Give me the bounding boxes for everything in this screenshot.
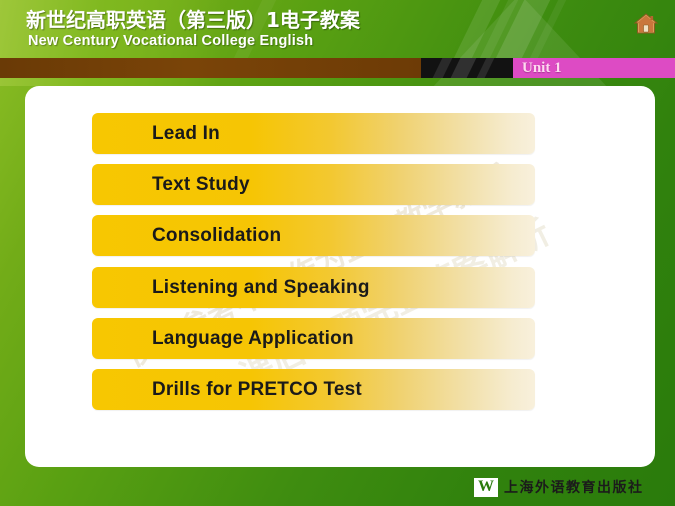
publisher-mark-icon: W (474, 478, 498, 497)
menu-item-text-study[interactable]: Text Study (92, 164, 535, 205)
page-title-chinese: 新世纪高职英语（第三版）1电子教案 (26, 4, 360, 33)
menu-item-label: Lead In (152, 113, 220, 154)
menu-item-consolidation[interactable]: Consolidation (92, 215, 535, 256)
band-brown-segment (0, 58, 421, 78)
menu-item-label: Listening and Speaking (152, 267, 370, 308)
menu-item-label: Text Study (152, 164, 250, 205)
menu-item-drills-for-pretco-test[interactable]: Drills for PRETCO Test (92, 369, 535, 410)
unit-badge-label: Unit 1 (522, 58, 672, 78)
menu-item-label: Language Application (152, 318, 354, 359)
home-icon (633, 12, 659, 36)
menu-item-label: Drills for PRETCO Test (152, 369, 362, 410)
page-title-english: New Century Vocational College English (28, 33, 313, 49)
home-button[interactable] (633, 12, 659, 36)
publisher-logo: W 上海外语教育出版社 (474, 477, 644, 497)
band-dark-segment (421, 58, 513, 78)
publisher-name: 上海外语教育出版社 (504, 477, 644, 497)
menu-item-lead-in[interactable]: Lead In (92, 113, 535, 154)
menu-item-label: Consolidation (152, 215, 281, 256)
menu-item-listening-and-speaking[interactable]: Listening and Speaking (92, 267, 535, 308)
content-card: 仅供参考不能作为正式教学新版 课后习题完整答案解析 Lead In Text S… (25, 86, 655, 467)
menu-item-language-application[interactable]: Language Application (92, 318, 535, 359)
slide-root: 新世纪高职英语（第三版）1电子教案 New Century Vocational… (0, 0, 675, 506)
